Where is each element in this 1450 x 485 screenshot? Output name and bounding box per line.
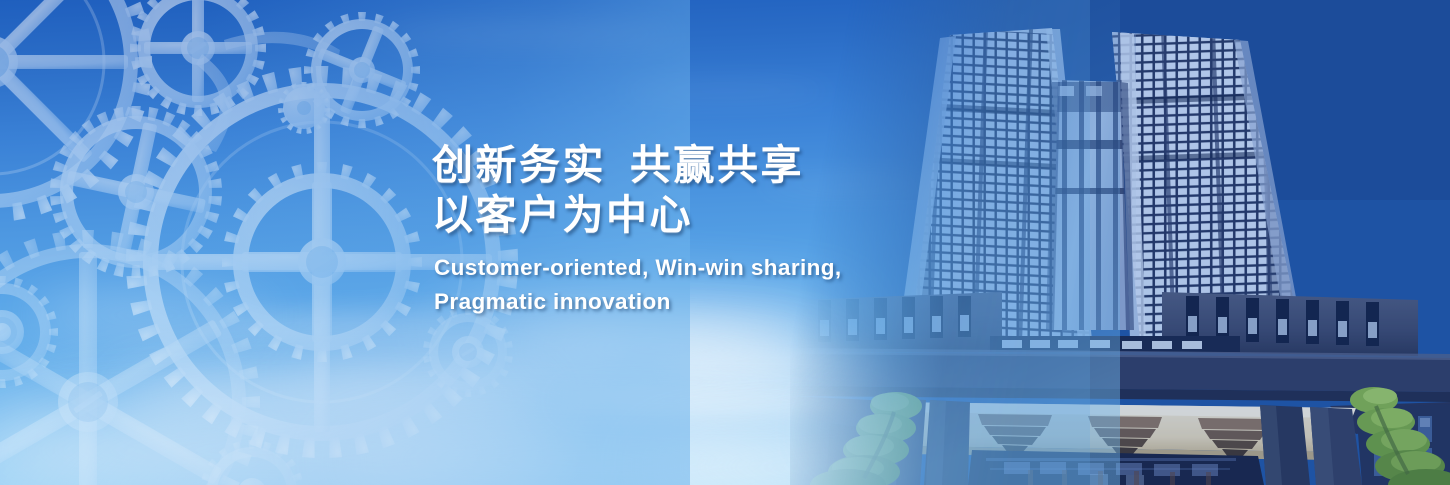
hero-banner: 创新务实共赢共享 以客户为中心 Customer-oriented, Win-w… [0,0,1450,485]
subtitle-line-2: Pragmatic innovation [434,284,952,320]
subtitle-line-1: Customer-oriented, Win-win sharing, [434,250,952,286]
headline-phrase-2: 共赢共享 [630,142,804,188]
headline-phrase-1: 创新务实 [432,142,606,188]
headline-line-1: 创新务实共赢共享 [432,140,952,190]
slogan-text-block: 创新务实共赢共享 以客户为中心 Customer-oriented, Win-w… [432,140,952,320]
headline-line-2: 以客户为中心 [432,190,952,240]
